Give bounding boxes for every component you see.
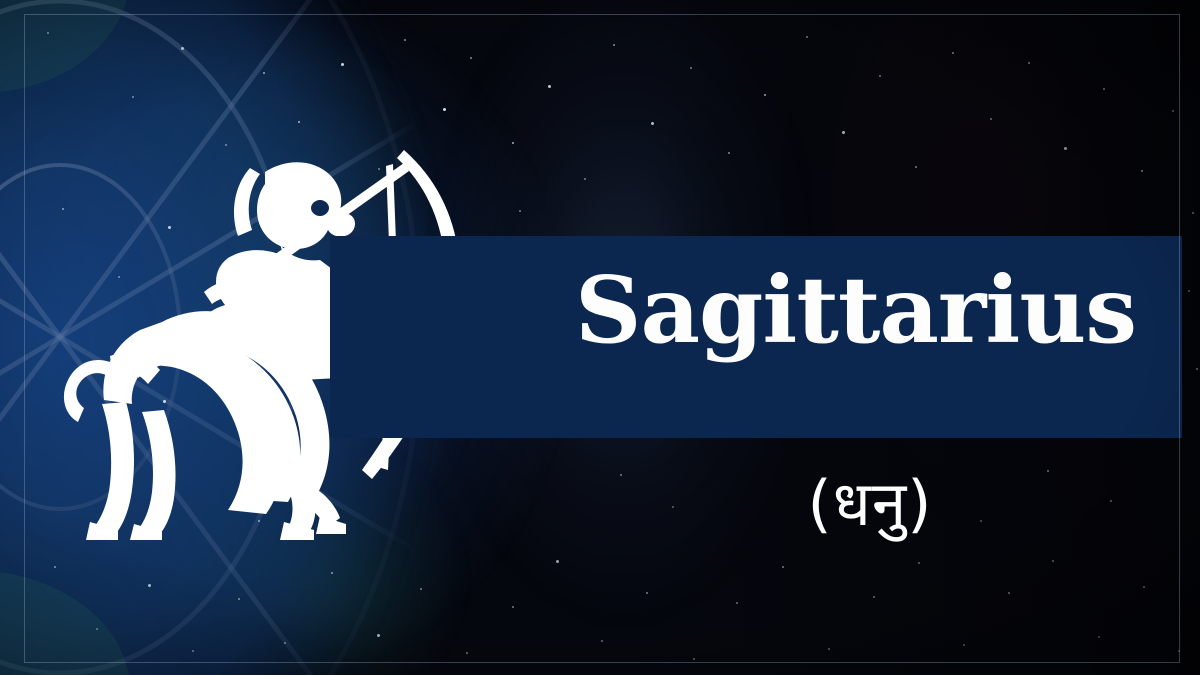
zodiac-sign-card: ♌ ♋ ♊ ♉ xyxy=(0,0,1200,675)
vignette-overlay xyxy=(0,0,1200,675)
